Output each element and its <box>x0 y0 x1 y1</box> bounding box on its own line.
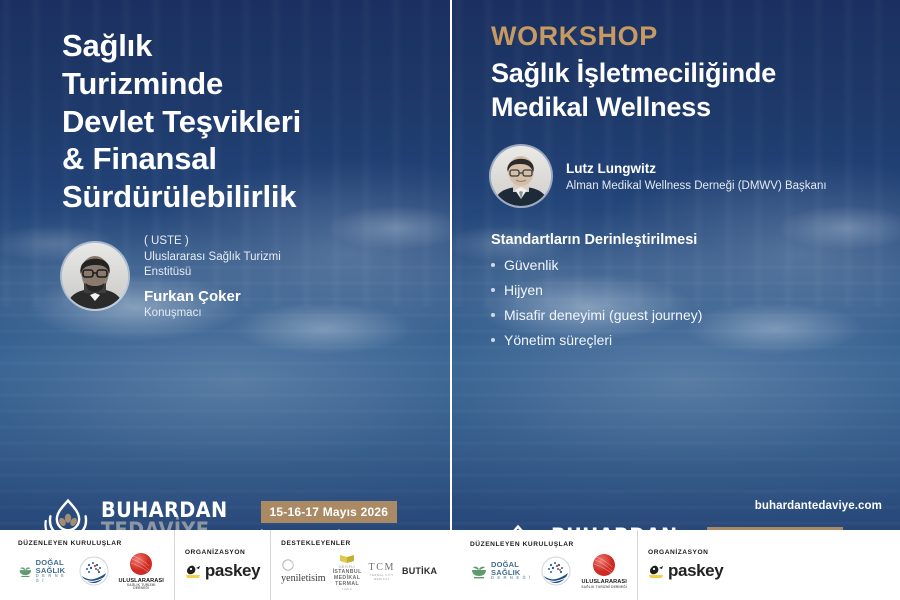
logo-line-3: D E R N E Ğ İ <box>36 574 69 582</box>
bullet-dot-icon <box>491 288 495 292</box>
open-book-icon <box>339 552 355 565</box>
event-card-left: Sağlık Turizminde Devlet Teşvikleri & Fi… <box>0 0 450 600</box>
dogal-saglik-dernegi-logo: DOĞAL SAĞLIK D E R N E Ğ İ <box>18 559 69 582</box>
avatar <box>491 146 551 206</box>
leaf-bowl-icon <box>18 563 33 579</box>
speaker-name: Furkan Çoker <box>144 288 281 305</box>
workshop-eyebrow: WORKSHOP <box>491 22 878 50</box>
topic-label: Yönetim süreçleri <box>504 332 612 348</box>
speaker-photo-lutz-lungwitz-icon <box>491 146 551 206</box>
yeniletisim-logo: yeniletisim <box>281 559 325 584</box>
speaker-text-left: ( USTE ) Uluslararası Sağlık Turizmi Ens… <box>144 234 281 319</box>
sponsor-bar-right: DÜZENLEYEN KURULUŞLAR DOĞAL SAĞLIK D E <box>452 530 900 600</box>
topics-block: Standartların Derinleştirilmesi Güvenlik… <box>452 232 900 357</box>
paskey-mark-icon <box>185 564 202 579</box>
speaker-name: Lutz Lungwitz <box>566 161 827 176</box>
saglik-turizmi-logo <box>79 556 109 586</box>
circle-swoosh-icon <box>281 559 297 573</box>
paskey-wordmark: paskey <box>668 561 723 581</box>
bullet-dot-icon <box>491 263 495 267</box>
logo-line-2: SAĞLIK TURİZMİ DERNEĞİ <box>581 586 627 589</box>
uluslararasi-logo: ULUSLARARASI SAĞLIK TURİZMİ DERNEĞİ <box>581 553 627 589</box>
speaker-org-line-3: Enstitüsü <box>144 265 281 281</box>
topic-item: Misafir deneyimi (guest journey) <box>491 307 880 323</box>
globe-dots-icon <box>79 556 109 586</box>
red-sphere-icon <box>127 552 155 578</box>
sponsor-group-organizers: DÜZENLEYEN KURULUŞLAR DOĞAL SAĞLIK D E <box>8 530 174 600</box>
date-badge: 15-16-17 Mayıs 2026 <box>261 501 398 523</box>
tcm-logo: TCM TERMAL CITY MEDICAL <box>369 562 395 581</box>
leaf-bowl-icon <box>470 563 488 579</box>
website-url[interactable]: buhardantedaviye.com <box>755 500 882 512</box>
logo-line-2: İSTANBUL MEDİKAL TERMAL <box>333 569 362 587</box>
uluslararasi-logo: ULUSLARARASI SAĞLIK TURİZMİ DERNEĞİ <box>119 552 164 591</box>
sponsor-group-supporters: DESTEKLEYENLER yeniletisim <box>270 530 447 600</box>
speaker-text-right: Lutz Lungwitz Alman Medikal Wellness Der… <box>566 161 827 192</box>
sponsor-bar-left: DÜZENLEYEN KURULUŞLAR DOĞAL SAĞLIK D E <box>0 530 450 600</box>
red-sphere-icon <box>590 553 618 579</box>
topic-label: Güvenlik <box>504 257 558 273</box>
event-card-right: WORKSHOP Sağlık İşletmeciliğinde Medikal… <box>450 0 900 600</box>
sponsor-group-heading: DESTEKLEYENLER <box>281 540 437 547</box>
topic-label: Hijyen <box>504 282 543 298</box>
speaker-org-line-2: Uluslararası Sağlık Turizmi <box>144 250 281 266</box>
speaker-photo-furkan-coker-icon <box>62 243 128 309</box>
topic-item: Yönetim süreçleri <box>491 332 880 348</box>
bullet-dot-icon <box>491 338 495 342</box>
istanbul-medikal-termal-logo: KEYİFLİ İSTANBUL MEDİKAL TERMAL TUZLA <box>333 552 362 591</box>
sponsor-group-organizers: DÜZENLEYEN KURULUŞLAR DOĞAL SAĞLIK D E <box>460 530 637 600</box>
topic-item: Hijyen <box>491 282 880 298</box>
avatar <box>62 243 128 309</box>
saglik-turizmi-logo <box>541 556 571 586</box>
globe-dots-icon <box>541 556 571 586</box>
paskey-mark-icon <box>648 564 665 579</box>
topic-label: Misafir deneyimi (guest journey) <box>504 307 702 323</box>
headline-block-left: Sağlık Turizminde Devlet Teşvikleri & Fi… <box>0 0 450 216</box>
bullet-dot-icon <box>491 313 495 317</box>
paskey-wordmark: paskey <box>205 561 260 581</box>
sponsor-group-organization: ORGANİZASYON paskey <box>637 530 733 600</box>
headline-line-1: Sağlık <box>62 27 428 65</box>
speaker-block-left: ( USTE ) Uluslararası Sağlık Turizmi Ens… <box>0 234 450 319</box>
speaker-role: Alman Medikal Wellness Derneği (DMWV) Ba… <box>566 180 827 192</box>
logo-line-2: SAĞLIK TURİZMİ DERNEĞİ <box>119 584 164 590</box>
dogal-saglik-dernegi-logo: DOĞAL SAĞLIK D E R N E Ğ İ <box>470 561 531 580</box>
logo-line-1: TCM <box>369 562 395 573</box>
paskey-logo: paskey <box>648 561 723 581</box>
paskey-logo: paskey <box>185 561 260 581</box>
sponsor-group-heading: ORGANİZASYON <box>648 549 723 556</box>
speaker-block-right: Lutz Lungwitz Alman Medikal Wellness Der… <box>452 146 900 206</box>
logo-line-2: TERMAL CITY MEDICAL <box>369 573 395 581</box>
logo-line-3: D E R N E Ğ İ <box>491 576 531 580</box>
yeniletisim-wordmark: yeniletisim <box>281 573 325 584</box>
topics-title: Standartların Derinleştirilmesi <box>491 232 880 248</box>
sponsor-group-heading: DÜZENLEYEN KURULUŞLAR <box>18 540 164 547</box>
speaker-role: Konuşmacı <box>144 307 281 319</box>
headline-block-right: WORKSHOP Sağlık İşletmeciliğinde Medikal… <box>452 0 900 124</box>
logo-line-3: TUZLA <box>342 587 352 591</box>
sponsor-group-organization: ORGANİZASYON paskey <box>174 530 270 600</box>
headline-line-2: Medikal Wellness <box>491 90 878 124</box>
sponsor-group-heading: DÜZENLEYEN KURULUŞLAR <box>470 541 627 548</box>
topic-item: Güvenlik <box>491 257 880 273</box>
headline-line-1: Sağlık İşletmeciliğinde <box>491 56 878 90</box>
poster-pair-canvas: Sağlık Turizminde Devlet Teşvikleri & Fi… <box>0 0 900 600</box>
headline-line-5: Sürdürülebilirlik <box>62 178 428 216</box>
butika-wordmark: BUTİKA <box>402 566 437 576</box>
headline-line-3: Devlet Teşvikleri <box>62 103 428 141</box>
headline-line-4: & Finansal <box>62 140 428 178</box>
speaker-org-line-1: ( USTE ) <box>144 234 281 250</box>
sponsor-group-heading: ORGANİZASYON <box>185 549 260 556</box>
butika-logo: BUTİKA <box>402 566 437 576</box>
headline-line-2: Turizminde <box>62 65 428 103</box>
